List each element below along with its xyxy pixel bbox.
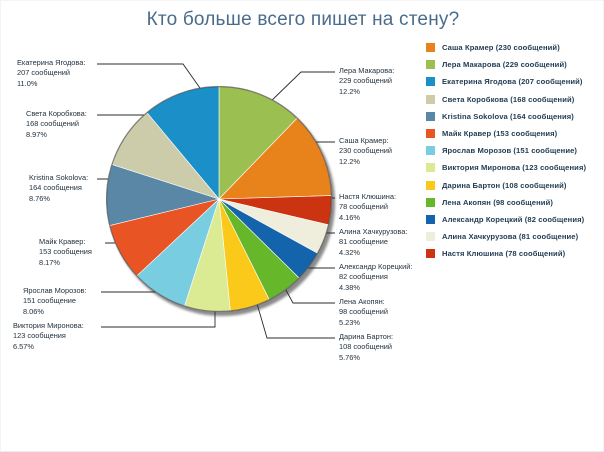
legend-color-swatch [426, 215, 435, 224]
legend-item[interactable]: Kristina Sokolova (164 сообщения) [426, 108, 602, 125]
callout-count: 229 сообщений [339, 76, 394, 86]
legend-item-label: Лена Акопян (98 сообщений) [442, 198, 553, 207]
callout-percent: 8.97% [26, 130, 87, 140]
slice-callout-darina: Дарина Бартон:108 сообщений5.76% [339, 332, 393, 363]
callout-count: 82 сообщения [339, 272, 412, 282]
callout-count: 78 сообщений [339, 202, 396, 212]
legend-item[interactable]: Лена Акопян (98 сообщений) [426, 194, 602, 211]
chart-page: Кто больше всего пишет на стену? [0, 0, 604, 452]
callout-count: 81 сообщение [339, 237, 407, 247]
slice-callout-yaroslav: Ярослав Морозов:151 сообщение8.06% [23, 286, 87, 317]
legend: Саша Крамер (230 сообщений)Лера Макарова… [426, 39, 602, 262]
legend-color-swatch [426, 198, 435, 207]
legend-color-swatch [426, 112, 435, 121]
slice-callout-mike: Майк Кравер:153 сообщения8.17% [39, 237, 92, 268]
slice-callout-viktoria: Виктория Миронова:123 сообщения6.57% [13, 321, 84, 352]
callout-name: Александр Корецкий: [339, 262, 412, 272]
legend-item-label: Алина Хачкурузова (81 сообщение) [442, 232, 578, 241]
legend-item-label: Света Коробкова (168 сообщений) [442, 95, 574, 104]
slice-callout-lera: Лера Макарова:229 сообщений12.2% [339, 66, 394, 97]
callout-percent: 5.23% [339, 318, 388, 328]
slice-callout-ekaterina: Екатерина Ягодова:207 сообщений11.0% [17, 58, 85, 89]
callout-count: 230 сообщений [339, 146, 392, 156]
callout-count: 153 сообщения [39, 247, 92, 257]
callout-percent: 6.57% [13, 342, 84, 352]
callout-count: 98 сообщений [339, 307, 388, 317]
legend-color-swatch [426, 232, 435, 241]
slice-callout-nastya: Настя Клюшина:78 сообщений4.16% [339, 192, 396, 223]
callout-name: Лена Акопян: [339, 297, 388, 307]
legend-color-swatch [426, 43, 435, 52]
legend-color-swatch [426, 129, 435, 138]
legend-item-label: Ярослав Морозов (151 сообщение) [442, 146, 577, 155]
legend-item-label: Лера Макарова (229 сообщений) [442, 60, 567, 69]
legend-item[interactable]: Александр Корецкий (82 сообщения) [426, 211, 602, 228]
legend-item[interactable]: Дарина Бартон (108 сообщений) [426, 177, 602, 194]
callout-percent: 12.2% [339, 87, 394, 97]
slice-callout-sasha: Саша Крамер:230 сообщений12.2% [339, 136, 392, 167]
callout-name: Света Коробкова: [26, 109, 87, 119]
callout-count: 207 сообщений [17, 68, 85, 78]
callout-count: 123 сообщения [13, 331, 84, 341]
legend-color-swatch [426, 181, 435, 190]
callout-percent: 11.0% [17, 79, 85, 89]
callout-name: Kristina Sokolova: [29, 173, 88, 183]
pie-chart [106, 86, 332, 312]
callout-name: Екатерина Ягодова: [17, 58, 85, 68]
slice-callout-sveta: Света Коробкова:168 сообщений8.97% [26, 109, 87, 140]
callout-percent: 4.32% [339, 248, 407, 258]
legend-item[interactable]: Ярослав Морозов (151 сообщение) [426, 142, 602, 159]
callout-name: Майк Кравер: [39, 237, 92, 247]
callout-name: Алина Хачкурузова: [339, 227, 407, 237]
callout-percent: 8.06% [23, 307, 87, 317]
legend-item[interactable]: Настя Клюшина (78 сообщений) [426, 245, 602, 262]
callout-percent: 8.17% [39, 258, 92, 268]
legend-item[interactable]: Алина Хачкурузова (81 сообщение) [426, 228, 602, 245]
legend-item-label: Саша Крамер (230 сообщений) [442, 43, 560, 52]
page-title: Кто больше всего пишет на стену? [1, 9, 604, 31]
legend-item[interactable]: Света Коробкова (168 сообщений) [426, 91, 602, 108]
callout-name: Лера Макарова: [339, 66, 394, 76]
callout-percent: 8.76% [29, 194, 88, 204]
legend-item-label: Майк Кравер (153 сообщения) [442, 129, 557, 138]
legend-color-swatch [426, 249, 435, 258]
pie-slices [106, 86, 332, 312]
legend-item[interactable]: Екатерина Ягодова (207 сообщений) [426, 73, 602, 90]
legend-item[interactable]: Виктория Миронова (123 сообщения) [426, 159, 602, 176]
callout-percent: 5.76% [339, 353, 393, 363]
callout-name: Настя Клюшина: [339, 192, 396, 202]
legend-item-label: Александр Корецкий (82 сообщения) [442, 215, 584, 224]
legend-item-label: Дарина Бартон (108 сообщений) [442, 181, 567, 190]
slice-callout-lena: Лена Акопян:98 сообщений5.23% [339, 297, 388, 328]
slice-callout-alina: Алина Хачкурузова:81 сообщение4.32% [339, 227, 407, 258]
callout-name: Ярослав Морозов: [23, 286, 87, 296]
legend-item-label: Настя Клюшина (78 сообщений) [442, 249, 565, 258]
legend-item[interactable]: Саша Крамер (230 сообщений) [426, 39, 602, 56]
legend-item-label: Kristina Sokolova (164 сообщения) [442, 112, 574, 121]
legend-color-swatch [426, 95, 435, 104]
legend-color-swatch [426, 163, 435, 172]
callout-count: 108 сообщений [339, 342, 393, 352]
callout-name: Саша Крамер: [339, 136, 392, 146]
callout-count: 168 сообщений [26, 119, 87, 129]
legend-color-swatch [426, 146, 435, 155]
legend-color-swatch [426, 60, 435, 69]
legend-item[interactable]: Лера Макарова (229 сообщений) [426, 56, 602, 73]
legend-item-label: Екатерина Ягодова (207 сообщений) [442, 77, 583, 86]
callout-percent: 4.38% [339, 283, 412, 293]
callout-count: 164 сообщения [29, 183, 88, 193]
slice-callout-aleksandr: Александр Корецкий:82 сообщения4.38% [339, 262, 412, 293]
legend-color-swatch [426, 77, 435, 86]
callout-name: Виктория Миронова: [13, 321, 84, 331]
legend-item[interactable]: Майк Кравер (153 сообщения) [426, 125, 602, 142]
callout-percent: 4.16% [339, 213, 396, 223]
callout-count: 151 сообщение [23, 296, 87, 306]
slice-callout-kristina: Kristina Sokolova:164 сообщения8.76% [29, 173, 88, 204]
callout-percent: 12.2% [339, 157, 392, 167]
callout-name: Дарина Бартон: [339, 332, 393, 342]
legend-item-label: Виктория Миронова (123 сообщения) [442, 163, 586, 172]
